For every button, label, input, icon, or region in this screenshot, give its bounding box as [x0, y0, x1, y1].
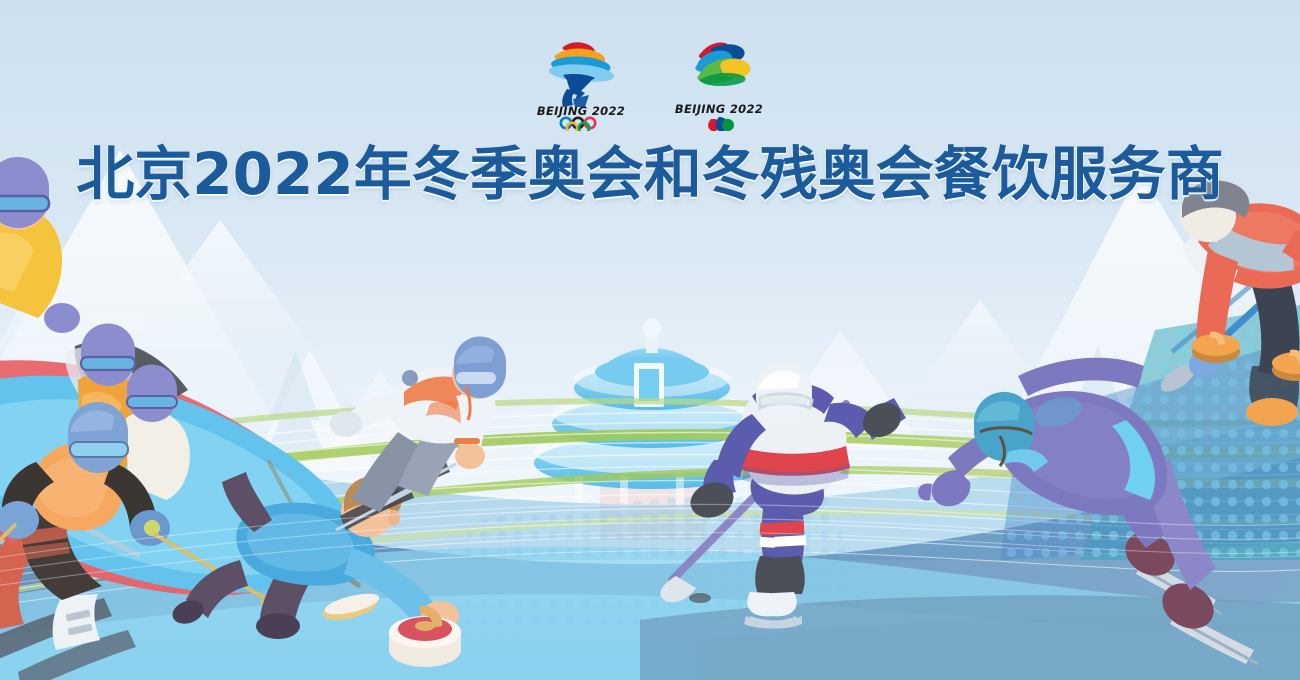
- ice-hockey-player: [660, 362, 907, 629]
- svg-text:BEIJING 2022: BEIJING 2022: [537, 104, 625, 118]
- paralympic-wordmark: BEIJING 2022: [675, 102, 763, 116]
- olympic-emblem: BEIJING 2022: [533, 33, 629, 131]
- curler-red: [1156, 180, 1300, 426]
- speed-skater-white: [330, 336, 506, 530]
- flying-high-emblem: [695, 42, 750, 86]
- page-title-wrap: 北京2022年冬季奥会和冬残奥会餐饮服务商: [0, 143, 1300, 205]
- paralympic-emblem: BEIJING 2022: [671, 33, 767, 131]
- agitos-symbol: [708, 117, 734, 131]
- winter-dream-emblem: [549, 42, 614, 107]
- olympic-wordmark: BEIJING 2022: [537, 104, 625, 118]
- page-title: 北京2022年冬季奥会和冬残奥会餐饮服务商: [76, 143, 1223, 205]
- speed-skater-purple: [918, 358, 1258, 664]
- beijing-2022-banner: BEIJING 2022: [0, 0, 1300, 680]
- emblem-row: BEIJING 2022: [0, 33, 1300, 131]
- svg-text:BEIJING 2022: BEIJING 2022: [675, 102, 763, 116]
- olympic-rings: [561, 118, 595, 131]
